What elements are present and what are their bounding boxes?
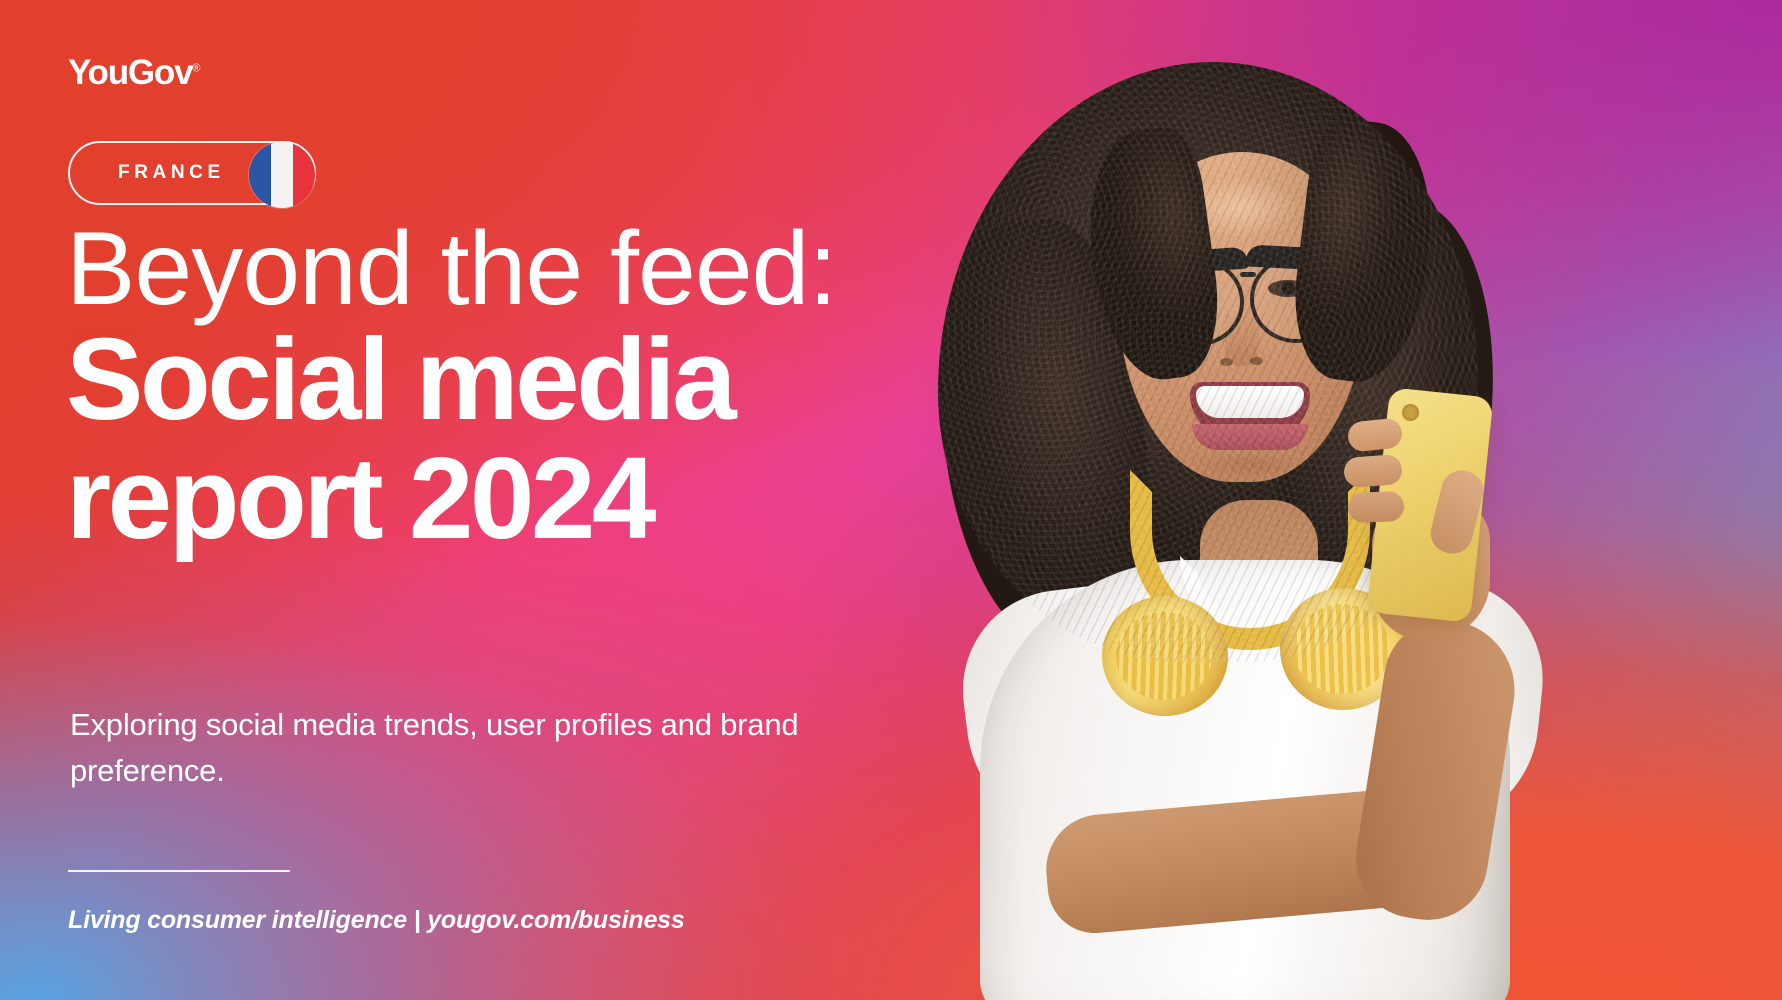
country-badge-label: FRANCE xyxy=(118,162,225,184)
page-title: Beyond the feed: Social media report 202… xyxy=(66,216,986,560)
headline-line-1: Beyond the feed: xyxy=(66,216,986,322)
finger-middle xyxy=(1343,454,1403,488)
headline-line-2: Social media xyxy=(66,318,986,441)
cover-content: YouGov® FRANCE Beyond the feed: Social m… xyxy=(0,0,1020,1000)
flag-stripe-red xyxy=(293,142,315,208)
yougov-logo-text: YouGov xyxy=(68,53,192,92)
flag-stripe-blue xyxy=(249,142,271,208)
country-badge[interactable]: FRANCE xyxy=(68,141,316,205)
divider xyxy=(68,870,290,872)
report-cover: YouGov® FRANCE Beyond the feed: Social m… xyxy=(0,0,1782,1000)
trademark-icon: ® xyxy=(192,62,200,74)
yougov-logo: YouGov® xyxy=(68,55,200,90)
headline-line-3: report 2024 xyxy=(66,437,986,560)
subtitle: Exploring social media trends, user prof… xyxy=(70,702,830,793)
footer-tagline: Living consumer intelligence | yougov.co… xyxy=(68,906,685,935)
france-flag-icon xyxy=(249,142,315,208)
finger-ring xyxy=(1347,491,1404,523)
flag-stripe-white xyxy=(271,142,293,208)
